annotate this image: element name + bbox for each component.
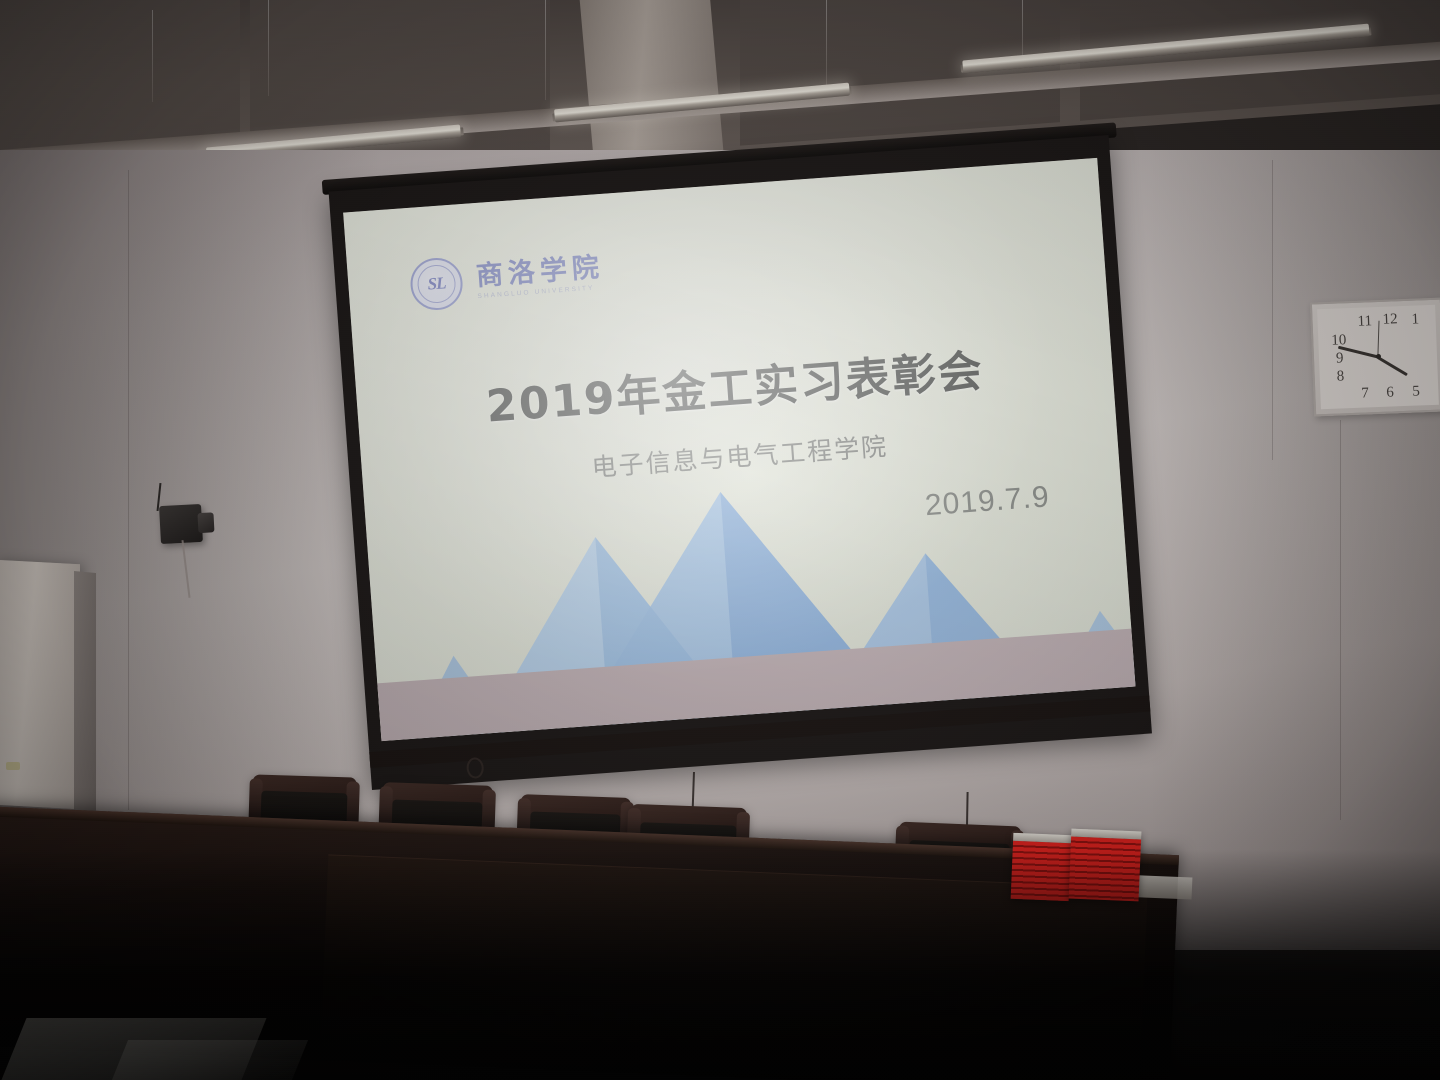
- wall-clock: 11 12 1 10 9 8 7 6 5: [1310, 298, 1440, 417]
- clock-number-8: 8: [1336, 368, 1344, 385]
- clock-number-7: 7: [1361, 385, 1369, 402]
- light-hanging-wire: [1022, 0, 1023, 62]
- clock-number-6: 6: [1386, 384, 1394, 401]
- light-hanging-wire: [268, 0, 269, 96]
- clock-hour-hand: [1338, 346, 1378, 358]
- wall-receiver-device: [159, 504, 203, 544]
- light-hanging-wire: [545, 0, 546, 100]
- cabinet-sticker: [6, 762, 20, 770]
- clock-number-9: 9: [1336, 350, 1344, 367]
- seal-monogram: SL: [427, 273, 446, 294]
- projected-slide-area: SL 商洛学院 SHANGLUO UNIVERSITY 2019年金工实习表彰会…: [343, 158, 1135, 741]
- projection-screen: SL 商洛学院 SHANGLUO UNIVERSITY 2019年金工实习表彰会…: [329, 135, 1152, 790]
- clock-number-1: 1: [1411, 311, 1419, 328]
- left-wall-cabinet: [0, 560, 80, 810]
- certificate-stack: [1069, 829, 1142, 902]
- certificate-stack: [1011, 833, 1072, 901]
- floor-tile: [112, 1040, 308, 1080]
- university-seal-icon: SL: [409, 256, 465, 312]
- light-hanging-wire: [826, 0, 827, 86]
- clock-number-11: 11: [1357, 313, 1372, 331]
- presentation-slide: SL 商洛学院 SHANGLUO UNIVERSITY 2019年金工实习表彰会…: [343, 158, 1135, 741]
- clock-number-12: 12: [1382, 311, 1398, 329]
- university-logo: SL 商洛学院 SHANGLUO UNIVERSITY: [409, 246, 606, 312]
- cabinet-edge: [74, 571, 96, 813]
- lecture-hall-photo: 11 12 1 10 9 8 7 6 5: [0, 0, 1440, 1080]
- clock-face: 11 12 1 10 9 8 7 6 5: [1317, 305, 1439, 409]
- clock-second-hand: [1377, 321, 1379, 357]
- light-hanging-wire: [152, 10, 153, 102]
- clock-minute-hand: [1377, 356, 1407, 376]
- wall-shadow-right: [1150, 150, 1440, 950]
- clock-number-5: 5: [1412, 383, 1420, 400]
